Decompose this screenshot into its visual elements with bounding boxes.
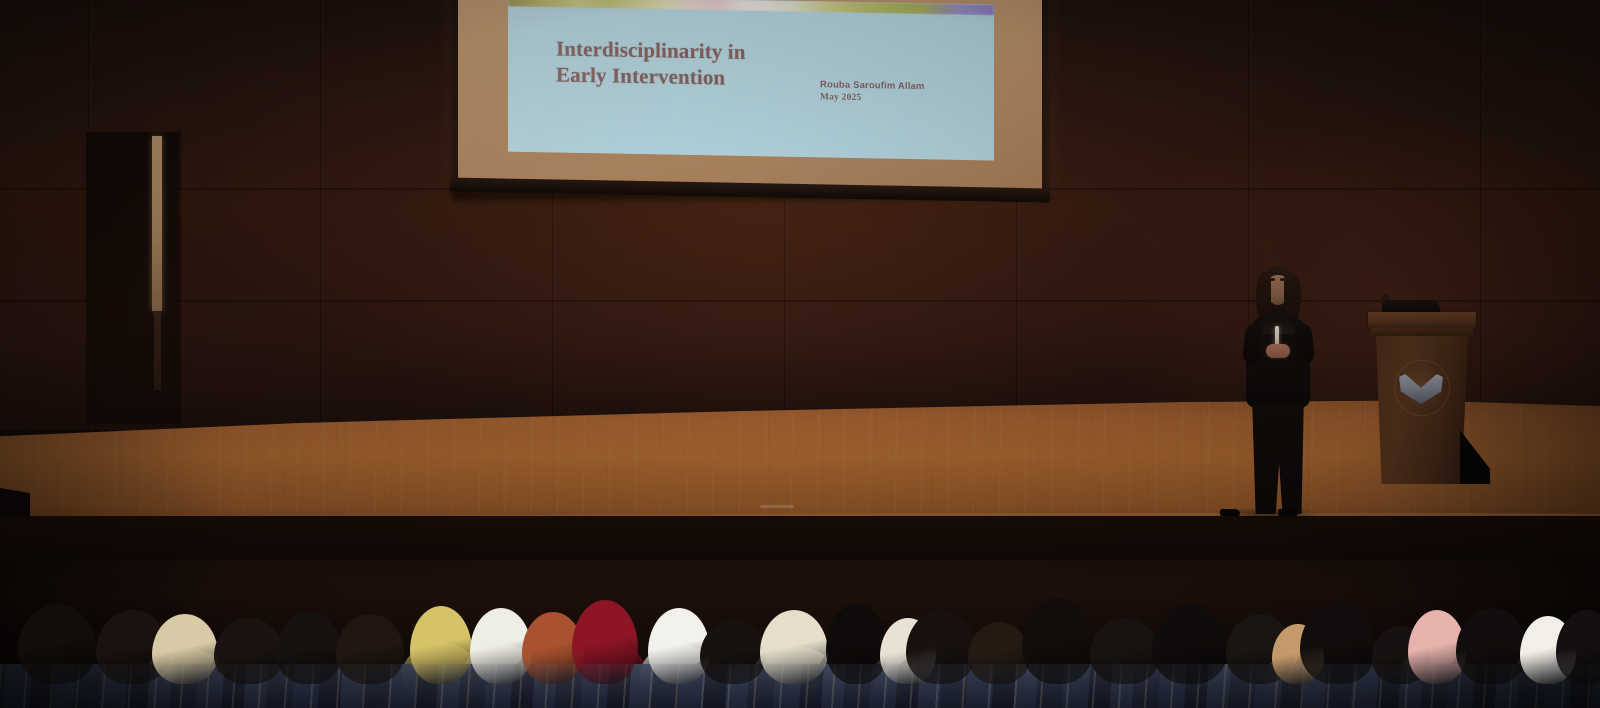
presenter-shoe-right: [1278, 509, 1298, 516]
audience: [0, 560, 1600, 708]
presenter-shoe-left: [1220, 509, 1240, 516]
door-lower-edge: [154, 312, 161, 390]
presenter-legs: [1250, 404, 1306, 514]
slide-title-line-2: Early Intervention: [556, 62, 786, 92]
auditorium-photo: Interdisciplinarity in Early Interventio…: [0, 0, 1600, 708]
presentation-slide: Interdisciplinarity in Early Interventio…: [508, 0, 994, 160]
door-light-strip: [152, 136, 162, 311]
podium: [1368, 312, 1476, 484]
projection-screen: Interdisciplinarity in Early Interventio…: [458, 0, 1042, 191]
stage-floor-marking: [760, 505, 795, 508]
alcove-right-edge: [178, 130, 181, 426]
audience-member-head: [968, 622, 1030, 684]
stage-left-alcove: [86, 132, 178, 424]
slide-date: May 2025: [820, 92, 861, 103]
presenter: [1220, 266, 1330, 518]
wall-horizontal-seam-lower: [0, 300, 1600, 302]
podium-top-surface: [1368, 312, 1476, 328]
podium-lip: [1371, 328, 1473, 336]
slide-title-line-1: Interdisciplinarity in: [556, 36, 786, 66]
slide-author: Rouba Saroufim Allam: [820, 79, 925, 92]
presenter-arm-right: [1294, 323, 1315, 365]
presenter-hands: [1266, 344, 1290, 358]
slide-title: Interdisciplinarity in Early Interventio…: [556, 36, 786, 91]
